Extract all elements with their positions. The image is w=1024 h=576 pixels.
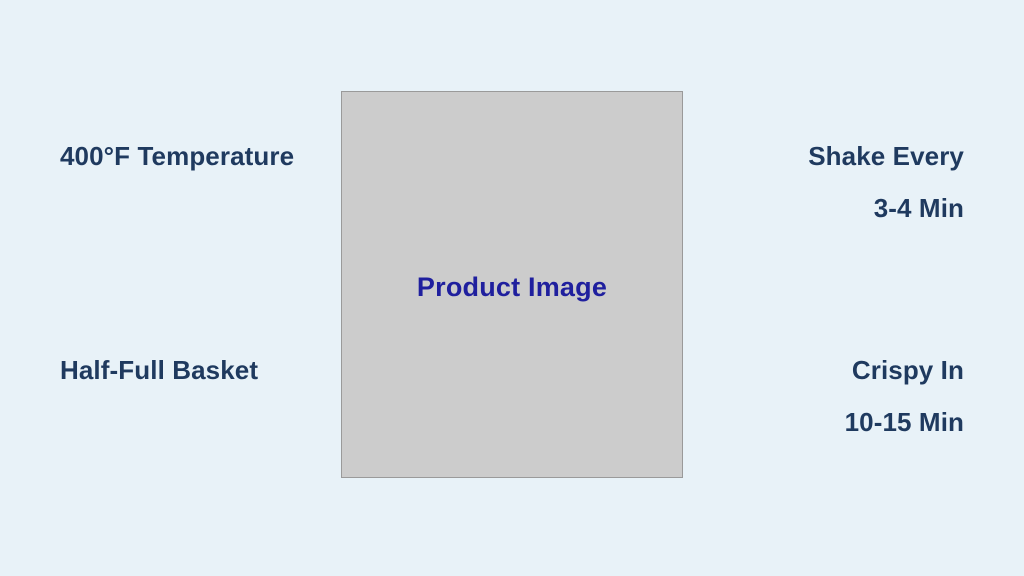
callout-basket-fill: Half-Full Basket: [60, 344, 258, 396]
callout-temperature: 400°F Temperature: [60, 130, 294, 182]
product-image-placeholder: Product Image: [341, 91, 683, 478]
callout-cook-time: Crispy In 10-15 Min: [845, 344, 964, 448]
slide-canvas: 400°F Temperature Half-Full Basket Produ…: [0, 0, 1024, 576]
product-image-placeholder-label: Product Image: [417, 273, 607, 303]
callout-shake-interval: Shake Every 3-4 Min: [808, 130, 964, 234]
